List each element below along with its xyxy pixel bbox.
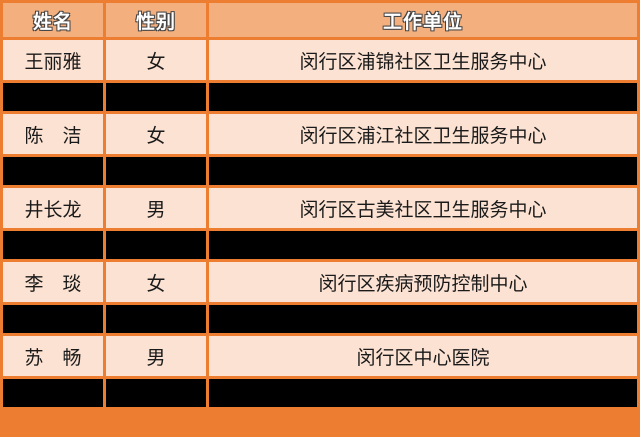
redacted-cell-sex [106,305,206,333]
cell-org: 闵行区疾病预防控制中心 [209,262,637,302]
table-row-redacted [3,83,637,111]
column-header-name: 姓名 [3,3,103,37]
table-row-redacted [3,157,637,185]
redacted-cell-sex [106,379,206,407]
cell-sex: 男 [106,336,206,376]
table-row-redacted [3,231,637,259]
redacted-cell-name [3,83,103,111]
redacted-cell-org [209,231,637,259]
cell-name: 李 琰 [3,262,103,302]
column-header-sex: 性别 [106,3,206,37]
table-row: 井长龙男闵行区古美社区卫生服务中心 [3,188,637,228]
redacted-cell-name [3,231,103,259]
redacted-cell-name [3,305,103,333]
cell-name: 王丽雅 [3,40,103,80]
cell-sex: 女 [106,114,206,154]
table-row: 苏 畅男闵行区中心医院 [3,336,637,376]
table-row: 陈 洁女闵行区浦江社区卫生服务中心 [3,114,637,154]
redacted-cell-sex [106,157,206,185]
redacted-cell-org [209,379,637,407]
redacted-cell-name [3,157,103,185]
cell-org: 闵行区浦锦社区卫生服务中心 [209,40,637,80]
cell-sex: 女 [106,262,206,302]
table-header-row: 姓名 性别 工作单位 [3,3,637,37]
table-row: 王丽雅女闵行区浦锦社区卫生服务中心 [3,40,637,80]
table-row: 李 琰女闵行区疾病预防控制中心 [3,262,637,302]
cell-org: 闵行区中心医院 [209,336,637,376]
cell-name: 井长龙 [3,188,103,228]
table-row-redacted [3,305,637,333]
cell-name: 苏 畅 [3,336,103,376]
table-header: 姓名 性别 工作单位 [3,3,637,37]
cell-name: 陈 洁 [3,114,103,154]
roster-table: 姓名 性别 工作单位 王丽雅女闵行区浦锦社区卫生服务中心陈 洁女闵行区浦江社区卫… [0,0,640,410]
redacted-cell-org [209,305,637,333]
table-row-redacted [3,379,637,407]
column-header-org: 工作单位 [209,3,637,37]
cell-sex: 男 [106,188,206,228]
redacted-cell-sex [106,231,206,259]
redacted-cell-org [209,83,637,111]
cell-org: 闵行区浦江社区卫生服务中心 [209,114,637,154]
redacted-cell-sex [106,83,206,111]
redacted-cell-name [3,379,103,407]
redacted-cell-org [209,157,637,185]
table-body: 王丽雅女闵行区浦锦社区卫生服务中心陈 洁女闵行区浦江社区卫生服务中心井长龙男闵行… [3,40,637,407]
roster-table-container: 姓名 性别 工作单位 王丽雅女闵行区浦锦社区卫生服务中心陈 洁女闵行区浦江社区卫… [0,0,640,437]
cell-org: 闵行区古美社区卫生服务中心 [209,188,637,228]
cell-sex: 女 [106,40,206,80]
